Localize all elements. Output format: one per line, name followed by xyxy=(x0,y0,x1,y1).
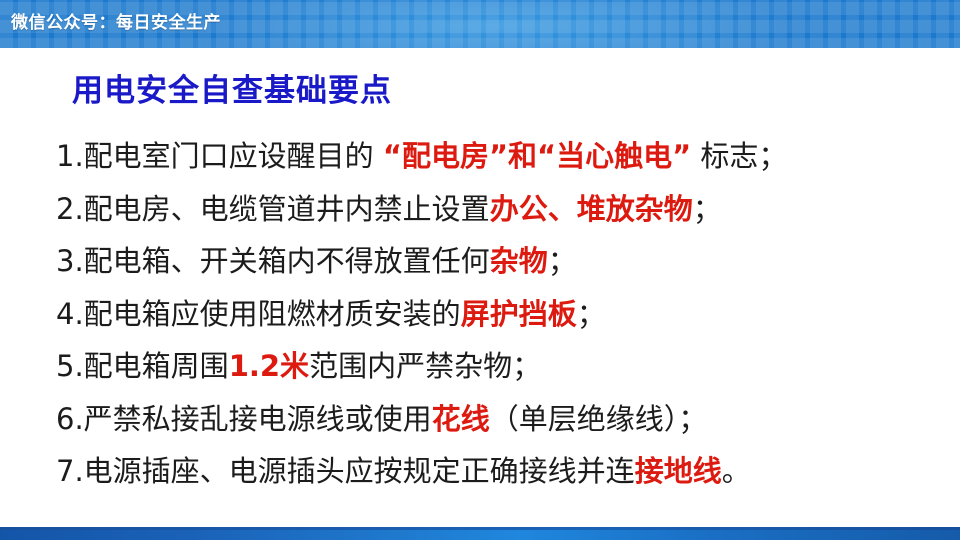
checklist-item-text: （单层绝缘线）； xyxy=(490,402,708,436)
checklist-item-highlight: 屏护挡板 xyxy=(461,297,577,331)
checklist-item-number: 2. xyxy=(56,192,84,226)
checklist-item: 1.配电室门口应设醒目的 “配电房”和“当心触电” 标志； xyxy=(56,130,936,183)
checklist-item: 3.配电箱、开关箱内不得放置任何杂物； xyxy=(56,235,936,288)
checklist-item-highlight: 花线 xyxy=(432,402,490,436)
checklist-item-text: 配电房、电缆管道井内禁止设置 xyxy=(84,192,490,226)
checklist-item-text: ； xyxy=(693,192,722,226)
checklist: 1.配电室门口应设醒目的 “配电房”和“当心触电” 标志；2.配电房、电缆管道井… xyxy=(56,130,936,498)
checklist-item-number: 7. xyxy=(56,454,84,488)
bottom-bar-highlight xyxy=(0,527,960,530)
checklist-item-highlight: 接地线 xyxy=(635,454,722,488)
checklist-item-number: 5. xyxy=(56,349,84,383)
checklist-item-number: 4. xyxy=(56,297,84,331)
checklist-item-text: 标志； xyxy=(691,139,787,173)
bottom-bar xyxy=(0,527,960,540)
checklist-item-text: 电源插座、电源插头应按规定正确接线并连 xyxy=(84,454,635,488)
checklist-item: 4.配电箱应使用阻燃材质安装的屏护挡板； xyxy=(56,288,936,341)
checklist-item-text: ； xyxy=(577,297,606,331)
checklist-item-highlight: “配电房”和“当心触电” xyxy=(383,139,691,173)
checklist-item-text: 范围内严禁杂物； xyxy=(309,349,541,383)
banner-wechat-account-text: 微信公众号：每日安全生产 xyxy=(11,0,221,48)
checklist-item: 2.配电房、电缆管道井内禁止设置办公、堆放杂物； xyxy=(56,183,936,236)
checklist-item-text: 配电箱、开关箱内不得放置任何 xyxy=(84,244,490,278)
top-banner: 微信公众号：每日安全生产 xyxy=(0,0,960,48)
slide-canvas: 微信公众号：每日安全生产 用电安全自查基础要点 1.配电室门口应设醒目的 “配电… xyxy=(0,0,960,540)
checklist-item-highlight: 1.2米 xyxy=(229,349,309,383)
checklist-item-number: 3. xyxy=(56,244,84,278)
checklist-item-text: 。 xyxy=(722,454,751,488)
checklist-item: 5.配电箱周围1.2米范围内严禁杂物； xyxy=(56,340,936,393)
checklist-item-highlight: 杂物 xyxy=(490,244,548,278)
checklist-item-text: 严禁私接乱接电源线或使用 xyxy=(84,402,432,436)
checklist-item-number: 1. xyxy=(56,139,84,173)
page-title: 用电安全自查基础要点 xyxy=(72,65,392,110)
checklist-item-number: 6. xyxy=(56,402,84,436)
checklist-item-text: ； xyxy=(548,244,577,278)
checklist-item: 7.电源插座、电源插头应按规定正确接线并连接地线。 xyxy=(56,445,936,498)
checklist-item: 6.严禁私接乱接电源线或使用花线（单层绝缘线）； xyxy=(56,393,936,446)
checklist-item-text: 配电箱周围 xyxy=(84,349,229,383)
checklist-item-highlight: 办公、堆放杂物 xyxy=(490,192,693,226)
checklist-item-text: 配电室门口应设醒目的 xyxy=(84,139,383,173)
checklist-item-text: 配电箱应使用阻燃材质安装的 xyxy=(84,297,461,331)
